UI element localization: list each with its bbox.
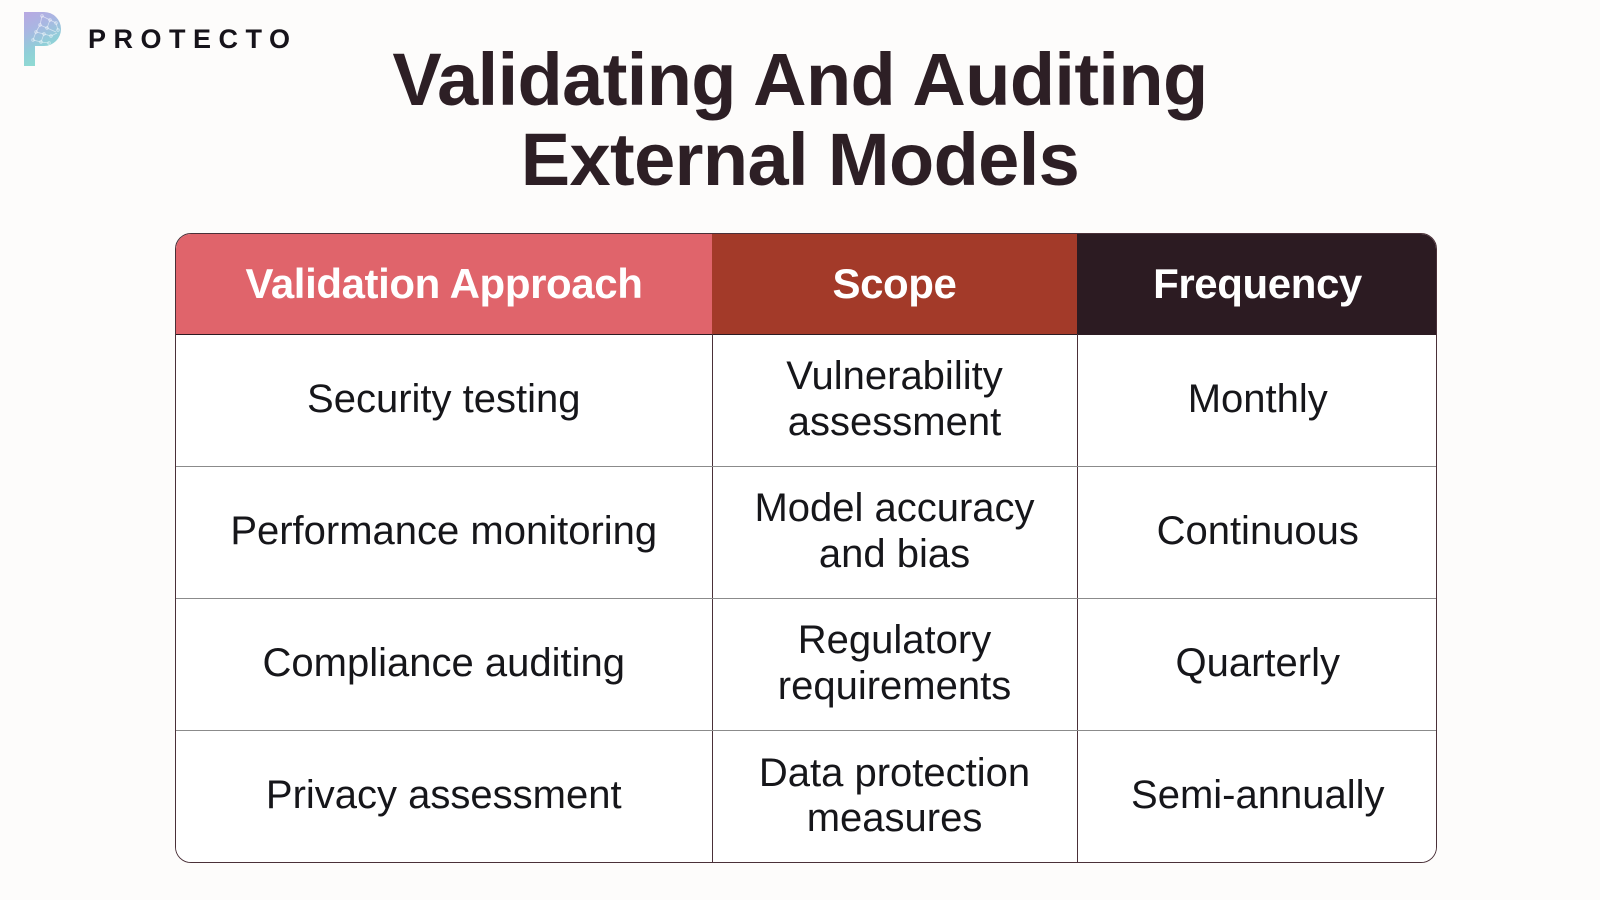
page-title-line-1: Validating And Auditing <box>0 40 1600 120</box>
validation-table-container: Validation Approach Scope Frequency Secu… <box>175 233 1437 863</box>
cell-scope: Data protection measures <box>712 730 1077 862</box>
cell-approach: Security testing <box>176 334 712 466</box>
table-header: Validation Approach Scope Frequency <box>176 234 1437 334</box>
validation-table: Validation Approach Scope Frequency Secu… <box>176 234 1437 862</box>
cell-approach: Performance monitoring <box>176 466 712 598</box>
cell-frequency: Semi-annually <box>1077 730 1437 862</box>
cell-frequency: Monthly <box>1077 334 1437 466</box>
column-header-validation-approach: Validation Approach <box>176 234 712 334</box>
cell-approach: Compliance auditing <box>176 598 712 730</box>
table-body: Security testing Vulnerability assessmen… <box>176 334 1437 862</box>
cell-scope: Regulatory requirements <box>712 598 1077 730</box>
cell-frequency: Quarterly <box>1077 598 1437 730</box>
table-row: Privacy assessment Data protection measu… <box>176 730 1437 862</box>
table-header-row: Validation Approach Scope Frequency <box>176 234 1437 334</box>
cell-frequency: Continuous <box>1077 466 1437 598</box>
cell-approach: Privacy assessment <box>176 730 712 862</box>
column-header-scope: Scope <box>712 234 1077 334</box>
cell-scope: Model accuracy and bias <box>712 466 1077 598</box>
page-title: Validating And Auditing External Models <box>0 40 1600 200</box>
table-row: Performance monitoring Model accuracy an… <box>176 466 1437 598</box>
column-header-frequency: Frequency <box>1077 234 1437 334</box>
table-row: Security testing Vulnerability assessmen… <box>176 334 1437 466</box>
page-title-line-2: External Models <box>0 120 1600 200</box>
slide-canvas: PROTECTO Validating And Auditing Externa… <box>0 0 1600 900</box>
cell-scope: Vulnerability assessment <box>712 334 1077 466</box>
table-row: Compliance auditing Regulatory requireme… <box>176 598 1437 730</box>
